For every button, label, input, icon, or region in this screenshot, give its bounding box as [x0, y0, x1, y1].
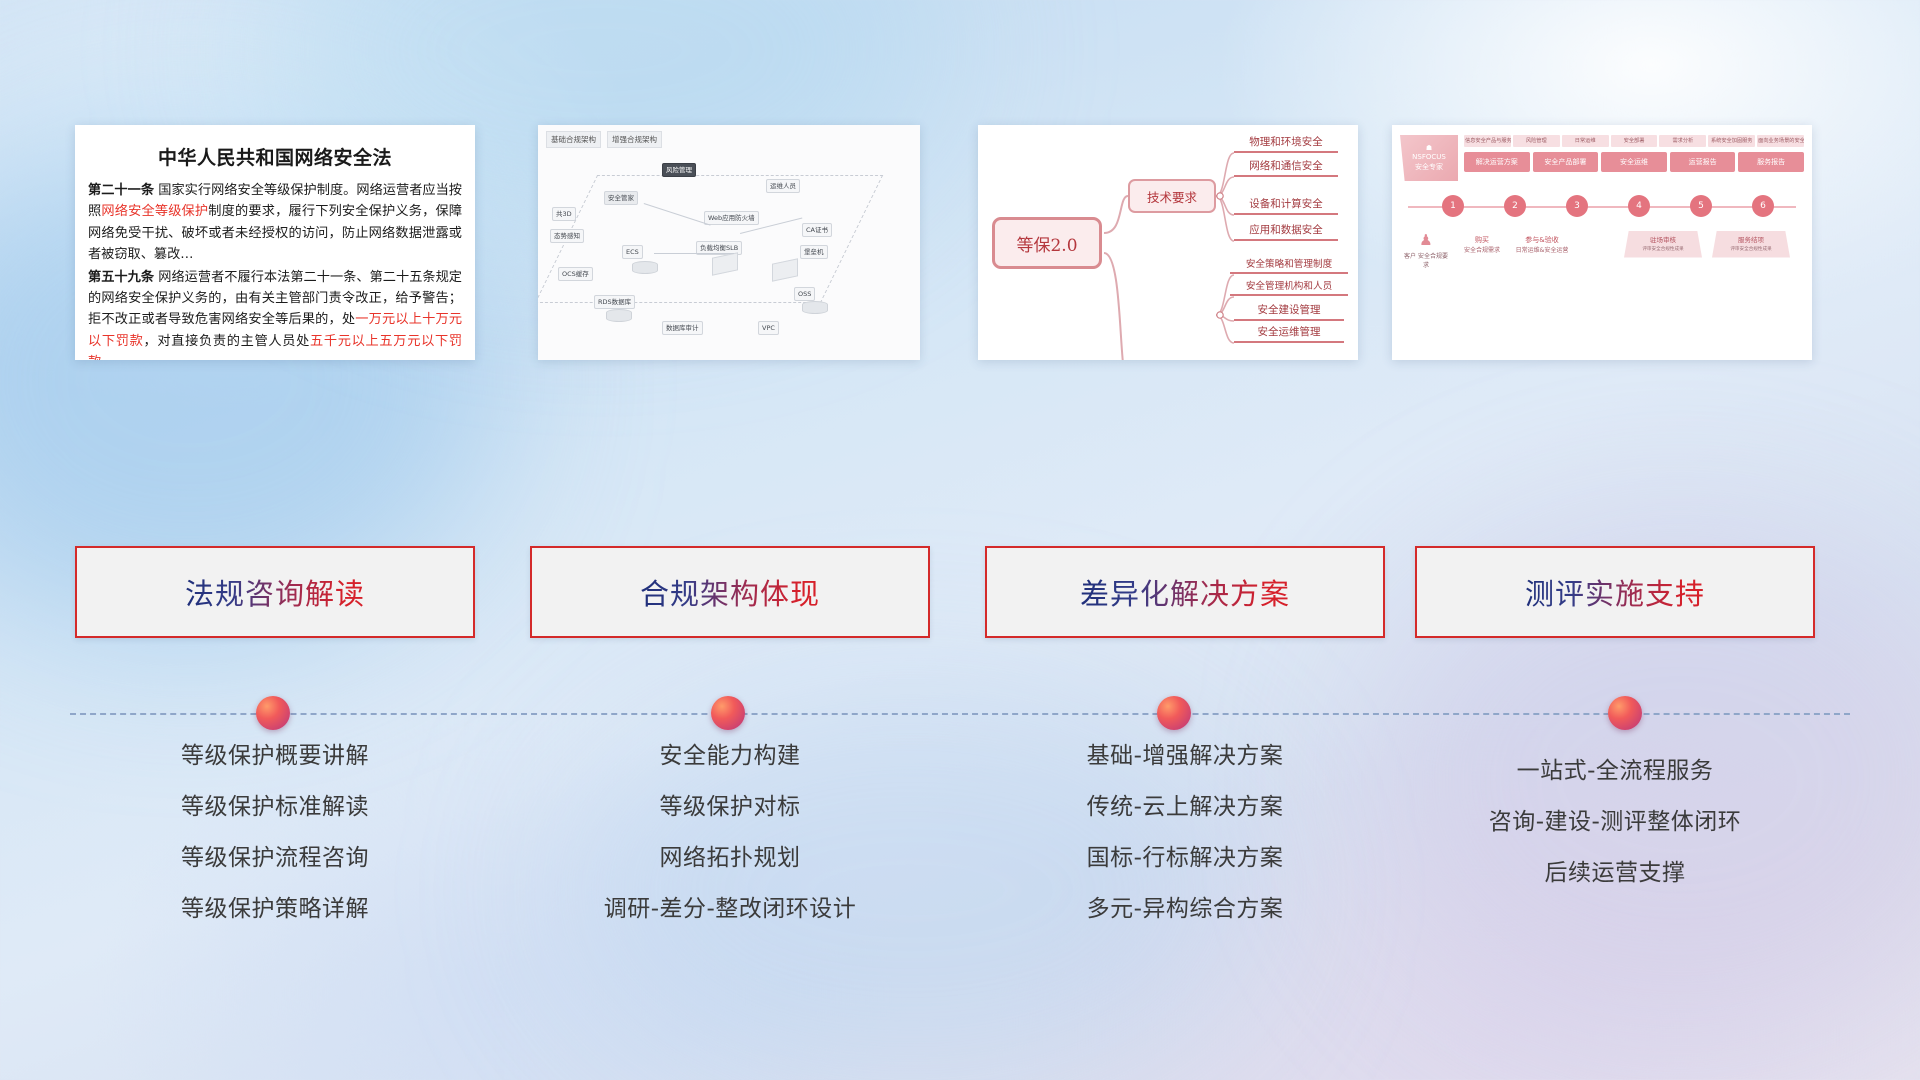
- timeline-dot-4[interactable]: [1608, 696, 1642, 730]
- architecture-node-bastion: 堡垒机: [800, 245, 828, 259]
- image-cards-row: 中华人民共和国网络安全法 第二十一条 国家实行网络安全等级保护制度。网络运营者应…: [0, 125, 1920, 365]
- section-list-3: 基础-增强解决方案 传统-云上解决方案 国标-行标解决方案 多元-异构综合方案: [985, 745, 1385, 949]
- section-titles-row: 法规咨询解读 合规架构体现 差异化解决方案 测评实施支持: [0, 546, 1920, 638]
- section-title-box-3[interactable]: 差异化解决方案: [985, 546, 1385, 638]
- nsfocus-header-body: 信息安全产品与服务供应商 风险管理 日常运维 安全部署 需求分析 系统安全加固服…: [1464, 135, 1804, 172]
- nsfocus-foot-1-sub: 评审安全合规性成果: [1718, 247, 1784, 253]
- nsfocus-tag-5: 系统安全加固服务: [1708, 135, 1755, 147]
- nsfocus-brand-sub: 安全专家: [1415, 163, 1443, 172]
- mindmap-leaf-application: 应用和数据安全: [1234, 222, 1338, 241]
- timeline-dot-1[interactable]: [256, 696, 290, 730]
- nsfocus-diagram: ☗ NSFOCUS 安全专家 信息安全产品与服务供应商 风险管理 日常运维 安全…: [1392, 125, 1812, 360]
- architecture-link-2: [654, 253, 734, 254]
- nsfocus-phase-0: 解决运营方案: [1464, 152, 1530, 172]
- nsfocus-step-5: 5: [1690, 195, 1712, 217]
- section-title-label-2: 合规架构体现: [640, 571, 820, 613]
- mindmap-leaf-device: 设备和计算安全: [1234, 196, 1338, 215]
- mindmap-leaf-physical: 物理和环境安全: [1234, 134, 1338, 153]
- mindmap-branch-technical: 技术要求: [1128, 179, 1216, 213]
- list-item: 后续运营支撑: [1415, 862, 1815, 885]
- nsfocus-phase-1: 安全产品部署: [1533, 152, 1599, 172]
- law-title: 中华人民共和国网络安全法: [75, 143, 475, 170]
- law-article-21-number: 第二十一条: [88, 183, 154, 198]
- architecture-cylinder-3: [802, 301, 828, 314]
- mindmap-root-node: 等保2.0: [992, 217, 1102, 269]
- nsfocus-mid-1-title: 参与&验收: [1512, 235, 1572, 246]
- nsfocus-phase-row: 解决运营方案 安全产品部署 安全运维 运营报告 服务报告: [1464, 152, 1804, 172]
- nsfocus-timeline: 1 2 3 4 5 6: [1400, 195, 1804, 221]
- law-article-59-text-b: ，对直接负责的主管人员处: [144, 334, 311, 349]
- section-title-box-1[interactable]: 法规咨询解读: [75, 546, 475, 638]
- section-list-1: 等级保护概要讲解 等级保护标准解读 等级保护流程咨询 等级保护策略详解: [75, 745, 475, 949]
- timeline-dot-2[interactable]: [711, 696, 745, 730]
- nsfocus-step-1: 1: [1442, 195, 1464, 217]
- nsfocus-phase-2: 安全运维: [1601, 152, 1667, 172]
- mindmap-leaf-network: 网络和通信安全: [1234, 158, 1338, 177]
- list-item: 安全能力构建: [530, 745, 930, 768]
- list-item: 等级保护概要讲解: [75, 745, 475, 768]
- slide-stage: 中华人民共和国网络安全法 第二十一条 国家实行网络安全等级保护制度。网络运营者应…: [0, 0, 1920, 1080]
- list-item: 咨询-建设-测评整体闭环: [1415, 811, 1815, 834]
- timeline-dot-3[interactable]: [1157, 696, 1191, 730]
- architecture-node-rds: RDS数据库: [594, 295, 635, 309]
- architecture-node-operator: 运维人员: [766, 179, 800, 193]
- architecture-node-oss: OSS: [794, 287, 815, 301]
- law-body: 第二十一条 国家实行网络安全等级保护制度。网络运营者应当按照网络安全等级保护制度…: [75, 170, 475, 360]
- architecture-node-gong3d: 共3D: [552, 207, 576, 221]
- card-compliance-architecture: 基础合规架构 增强合规架构 风险管理 安全管家 共3D 态势感知 运维人员 We…: [538, 125, 920, 360]
- card-cybersecurity-law: 中华人民共和国网络安全法 第二十一条 国家实行网络安全等级保护制度。网络运营者应…: [75, 125, 475, 360]
- list-item: 一站式-全流程服务: [1415, 760, 1815, 783]
- list-item: 传统-云上解决方案: [985, 796, 1385, 819]
- nsfocus-mid-1: 参与&验收 日常运维&安全运营: [1512, 235, 1572, 255]
- nsfocus-phase-4: 服务报告: [1738, 152, 1804, 172]
- list-item: 基础-增强解决方案: [985, 745, 1385, 768]
- section-title-label-1: 法规咨询解读: [185, 571, 365, 613]
- nsfocus-foot-1-title: 服务结项: [1738, 236, 1764, 244]
- list-item: 等级保护对标: [530, 796, 930, 819]
- nsfocus-foot-0-sub: 评审安全合规性成果: [1630, 247, 1696, 253]
- list-item: 网络拓扑规划: [530, 847, 930, 870]
- section-list-2: 安全能力构建 等级保护对标 网络拓扑规划 调研-差分-整改闭环设计: [530, 745, 930, 949]
- nsfocus-step-6: 6: [1752, 195, 1774, 217]
- architecture-tab-basic[interactable]: 基础合规架构: [546, 131, 601, 148]
- card-mindmap-dengbao: 等保2.0 技术要求 管理要求 物理和环境安全 网络和通信安全 设备和计算安全 …: [978, 125, 1358, 360]
- nsfocus-customer: ♟ 客户 安全合规要求: [1404, 229, 1448, 270]
- nsfocus-customer-sub: 安全合规要求: [1418, 253, 1448, 269]
- law-article-21-highlight: 网络安全等级保护: [101, 204, 208, 219]
- architecture-node-ecs: ECS: [622, 245, 643, 259]
- nsfocus-footer: ♟ 客户 安全合规要求 购买 安全合规需求 参与&验收 日常运维&安全运营 驻场…: [1400, 227, 1804, 289]
- section-title-label-3: 差异化解决方案: [1080, 571, 1290, 613]
- list-item: 等级保护标准解读: [75, 796, 475, 819]
- nsfocus-mid-0-sub: 安全合规需求: [1464, 247, 1500, 254]
- list-item: 等级保护策略详解: [75, 898, 475, 921]
- law-article-59-number: 第五十九条: [88, 270, 154, 285]
- nsfocus-foot-0: 驻场审核 评审安全合规性成果: [1624, 231, 1702, 258]
- nsfocus-header: ☗ NSFOCUS 安全专家 信息安全产品与服务供应商 风险管理 日常运维 安全…: [1400, 135, 1804, 181]
- mindmap-leaf-construction: 安全建设管理: [1234, 302, 1344, 321]
- list-item: 等级保护流程咨询: [75, 847, 475, 870]
- section-title-box-4[interactable]: 测评实施支持: [1415, 546, 1815, 638]
- architecture-plane-outline: [538, 175, 883, 303]
- section-title-box-2[interactable]: 合规架构体现: [530, 546, 930, 638]
- nsfocus-logo-mark: ☗: [1426, 144, 1432, 153]
- nsfocus-tag-1: 风险管理: [1513, 135, 1560, 147]
- nsfocus-step-2: 2: [1504, 195, 1526, 217]
- nsfocus-phase-3: 运营报告: [1670, 152, 1736, 172]
- architecture-tabs: 基础合规架构 增强合规架构: [546, 131, 662, 148]
- timeline-dashed-rule: [70, 713, 1850, 715]
- architecture-node-waf: Web应用防火墙: [704, 211, 759, 225]
- architecture-node-vpc: VPC: [758, 321, 779, 335]
- nsfocus-mid-0: 购买 安全合规需求: [1458, 235, 1506, 255]
- nsfocus-foot-0-title: 驻场审核: [1650, 236, 1676, 244]
- architecture-cylinder-1: [632, 261, 658, 274]
- card-nsfocus-service-flow: ☗ NSFOCUS 安全专家 信息安全产品与服务供应商 风险管理 日常运维 安全…: [1392, 125, 1812, 360]
- architecture-canvas: 风险管理 安全管家 共3D 态势感知 运维人员 Web应用防火墙 CA证书 堡垒…: [544, 149, 914, 354]
- section-title-label-4: 测评实施支持: [1525, 571, 1705, 613]
- architecture-node-ca: CA证书: [802, 223, 832, 237]
- architecture-node-housekeeper: 安全管家: [604, 191, 638, 205]
- nsfocus-brand: NSFOCUS: [1412, 153, 1446, 162]
- nsfocus-foot-1: 服务结项 评审安全合规性成果: [1712, 231, 1790, 258]
- architecture-cylinder-2: [606, 309, 632, 322]
- nsfocus-timeline-track: [1408, 206, 1796, 208]
- section-list-4: 一站式-全流程服务 咨询-建设-测评整体闭环 后续运营支撑: [1415, 760, 1815, 913]
- mindmap: 等保2.0 技术要求 管理要求 物理和环境安全 网络和通信安全 设备和计算安全 …: [978, 125, 1358, 360]
- nsfocus-mid-0-title: 购买: [1458, 235, 1506, 246]
- mindmap-leaf-policy: 安全策略和管理制度: [1230, 256, 1348, 274]
- nsfocus-tag-6: 面向业务场景的安全运营服务: [1757, 135, 1804, 147]
- nsfocus-tag-2: 日常运维: [1562, 135, 1609, 147]
- nsfocus-tag-3: 安全部署: [1611, 135, 1658, 147]
- list-item: 国标-行标解决方案: [985, 847, 1385, 870]
- mindmap-leaf-org: 安全管理机构和人员: [1230, 278, 1348, 296]
- mindmap-leaf-operation: 安全运维管理: [1234, 324, 1344, 343]
- nsfocus-tag-4: 需求分析: [1659, 135, 1706, 147]
- law-article-59: 第五十九条 网络运营者不履行本法第二十一条、第二十五条规定的网络安全保护义务的，…: [88, 267, 462, 361]
- architecture-diagram: 基础合规架构 增强合规架构 风险管理 安全管家 共3D 态势感知 运维人员 We…: [538, 125, 920, 360]
- nsfocus-mid-1-sub: 日常运维&安全运营: [1516, 247, 1569, 254]
- architecture-node-db-audit: 数据库审计: [662, 321, 703, 335]
- architecture-tab-enhanced[interactable]: 增强合规架构: [607, 131, 662, 148]
- list-item: 多元-异构综合方案: [985, 898, 1385, 921]
- nsfocus-step-3: 3: [1566, 195, 1588, 217]
- list-item: 调研-差分-整改闭环设计: [530, 898, 930, 921]
- nsfocus-step-4: 4: [1628, 195, 1650, 217]
- architecture-node-ocs: OCS缓存: [558, 267, 593, 281]
- nsfocus-tag-row: 信息安全产品与服务供应商 风险管理 日常运维 安全部署 需求分析 系统安全加固服…: [1464, 135, 1804, 147]
- nsfocus-logo: ☗ NSFOCUS 安全专家: [1400, 135, 1458, 181]
- law-article-21: 第二十一条 国家实行网络安全等级保护制度。网络运营者应当按照网络安全等级保护制度…: [88, 180, 462, 266]
- user-icon: ♟: [1404, 229, 1448, 252]
- nsfocus-tag-0: 信息安全产品与服务供应商: [1464, 135, 1511, 147]
- timeline-row: [0, 696, 1920, 732]
- architecture-node-situation: 态势感知: [550, 229, 584, 243]
- nsfocus-customer-label: 客户: [1404, 253, 1416, 260]
- architecture-node-risk: 风险管理: [662, 163, 696, 177]
